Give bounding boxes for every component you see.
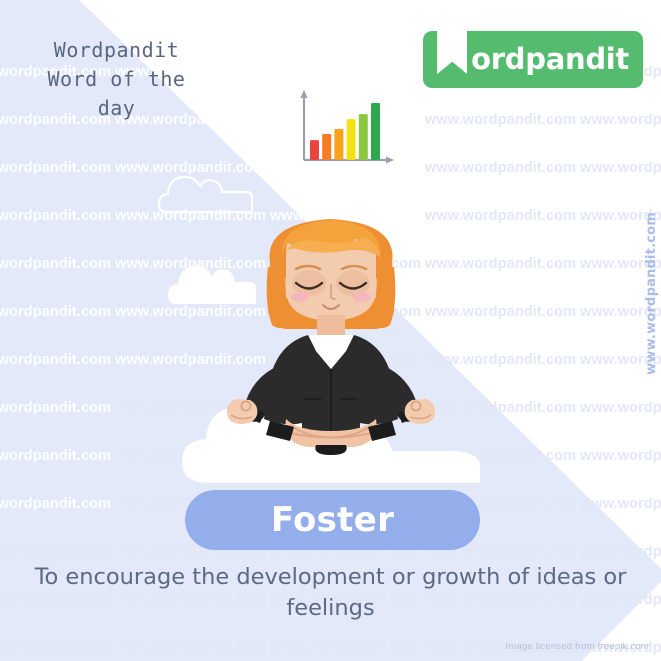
logo-text: ordpandit: [471, 45, 629, 74]
chart-bar: [334, 129, 343, 160]
definition-text: To encourage the development or growth o…: [24, 562, 637, 624]
chart-bar: [322, 134, 331, 160]
image-credit: Image licensed from freepik.com: [506, 641, 649, 652]
page-title-line-2: Word of the: [14, 65, 219, 94]
page-title-line-1: Wordpandit: [14, 36, 219, 65]
chart-bar: [371, 103, 380, 160]
chart-bar: [347, 119, 356, 160]
page-title: Wordpandit Word of the day: [14, 36, 219, 123]
chart-bar: [359, 114, 368, 160]
site-url-vertical[interactable]: www.wordpandit.com: [644, 212, 659, 375]
word-badge[interactable]: Foster: [185, 490, 480, 550]
bar-chart-icon: [295, 90, 395, 170]
wordpandit-logo[interactable]: ordpandit: [423, 31, 643, 88]
chart-bar: [310, 140, 319, 160]
word-label: Foster: [271, 500, 394, 540]
bookmark-icon: [437, 27, 467, 74]
meditating-businesswoman-illustration: [224, 193, 438, 455]
page-title-line-3: day: [14, 94, 219, 123]
word-of-the-day-card: www.wordpandit.comwww.wordpandit.comwww.…: [0, 0, 661, 661]
